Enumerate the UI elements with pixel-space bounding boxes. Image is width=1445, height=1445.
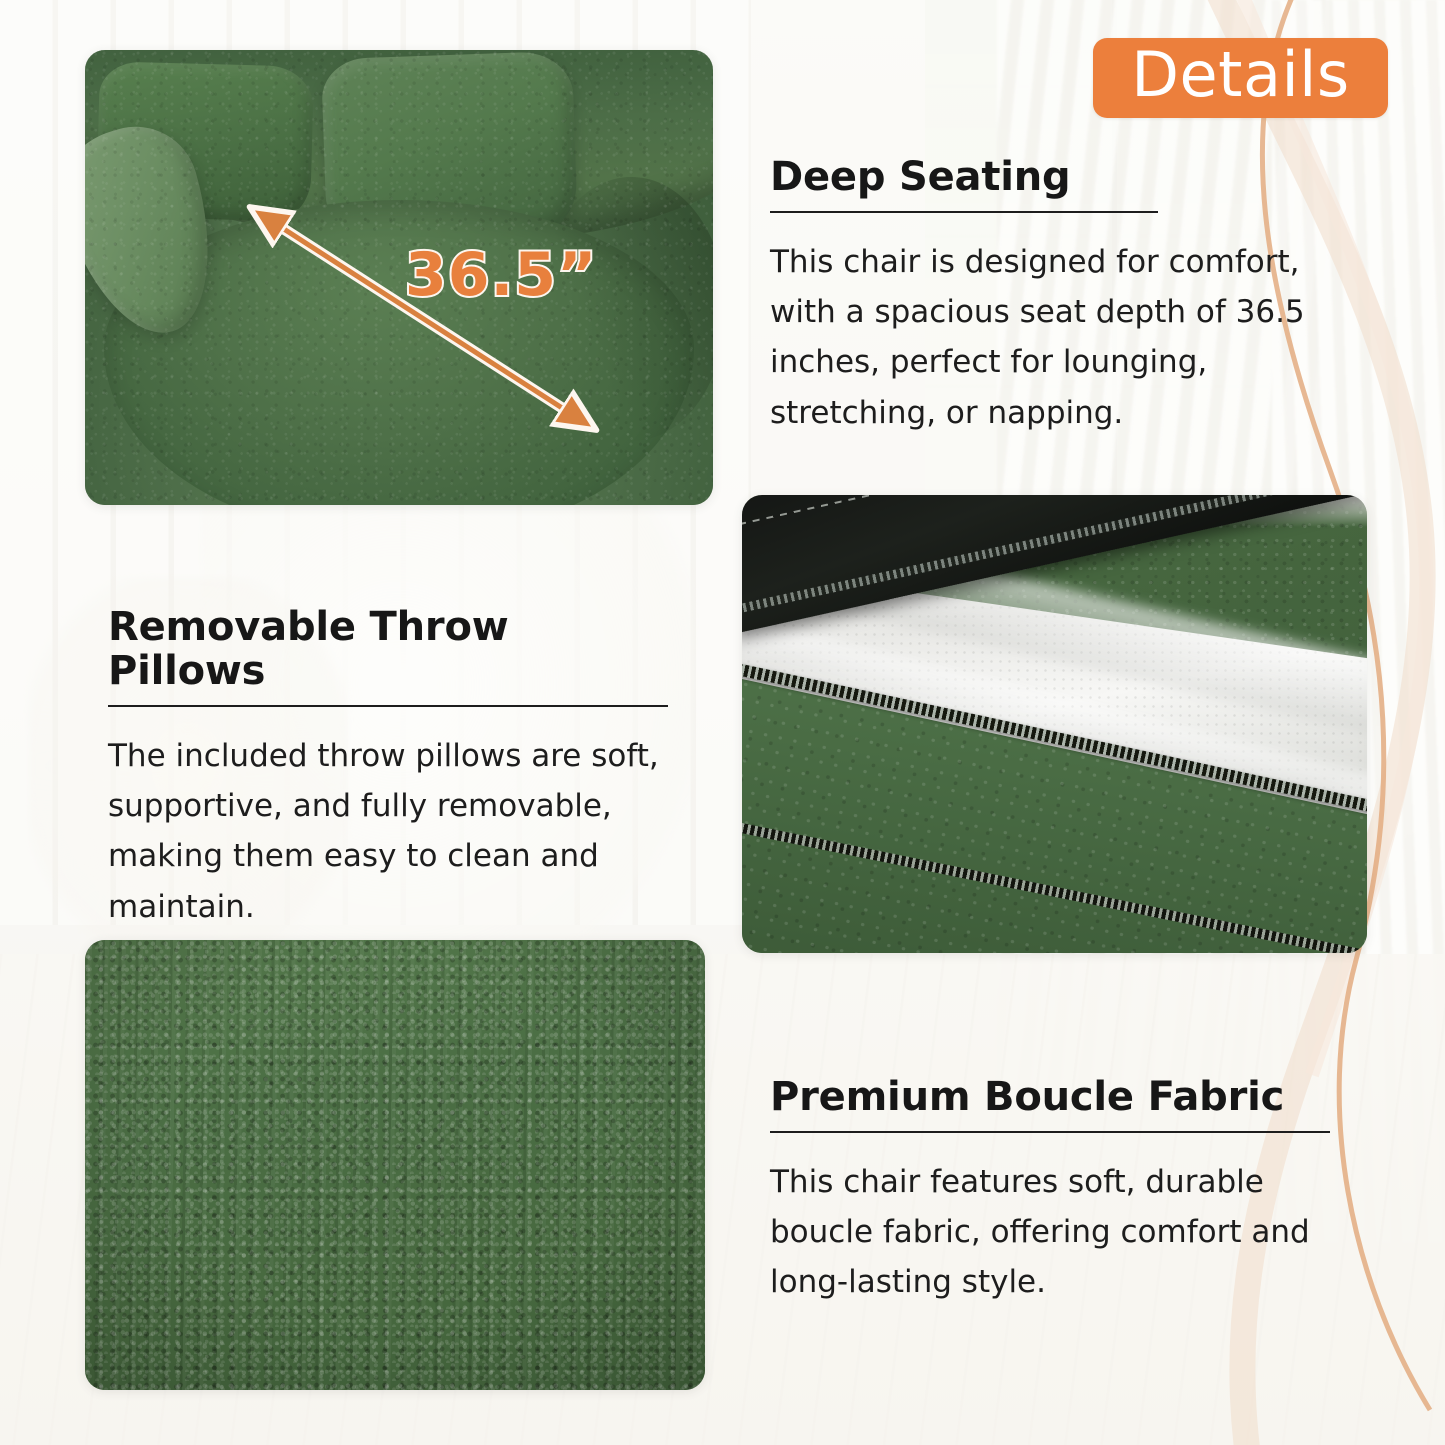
heading-rule-deep-seating bbox=[770, 211, 1158, 213]
section-body-removable-throw-pillows: The included throw pillows are soft, sup… bbox=[108, 731, 678, 932]
section-heading-premium-boucle-fabric: Premium Boucle Fabric bbox=[770, 1075, 1350, 1119]
section-heading-removable-throw-pillows: Removable Throw Pillows bbox=[108, 605, 678, 693]
details-page: Details 36.5” bbox=[0, 0, 1445, 1445]
details-badge: Details bbox=[1093, 38, 1388, 118]
section-deep-seating: Deep Seating This chair is designed for … bbox=[770, 155, 1360, 438]
dimension-label: 36.5” bbox=[405, 240, 597, 310]
details-badge-label: Details bbox=[1131, 44, 1349, 112]
section-heading-deep-seating: Deep Seating bbox=[770, 155, 1360, 199]
boucle-fabric-swatch-photo bbox=[85, 940, 705, 1390]
fabric-swatch-vignette bbox=[85, 940, 705, 1390]
deep-seat-photo bbox=[85, 50, 713, 505]
section-body-premium-boucle-fabric: This chair features soft, durable boucle… bbox=[770, 1157, 1350, 1308]
zipper-detail-photo bbox=[742, 495, 1367, 953]
heading-rule-removable-throw-pillows bbox=[108, 705, 668, 707]
section-removable-throw-pillows: Removable Throw Pillows The included thr… bbox=[108, 605, 678, 932]
dimension-arrow-36-5 bbox=[85, 50, 713, 505]
section-body-deep-seating: This chair is designed for comfort, with… bbox=[770, 237, 1360, 438]
heading-rule-premium-boucle-fabric bbox=[770, 1131, 1330, 1133]
section-premium-boucle-fabric: Premium Boucle Fabric This chair feature… bbox=[770, 1075, 1350, 1308]
